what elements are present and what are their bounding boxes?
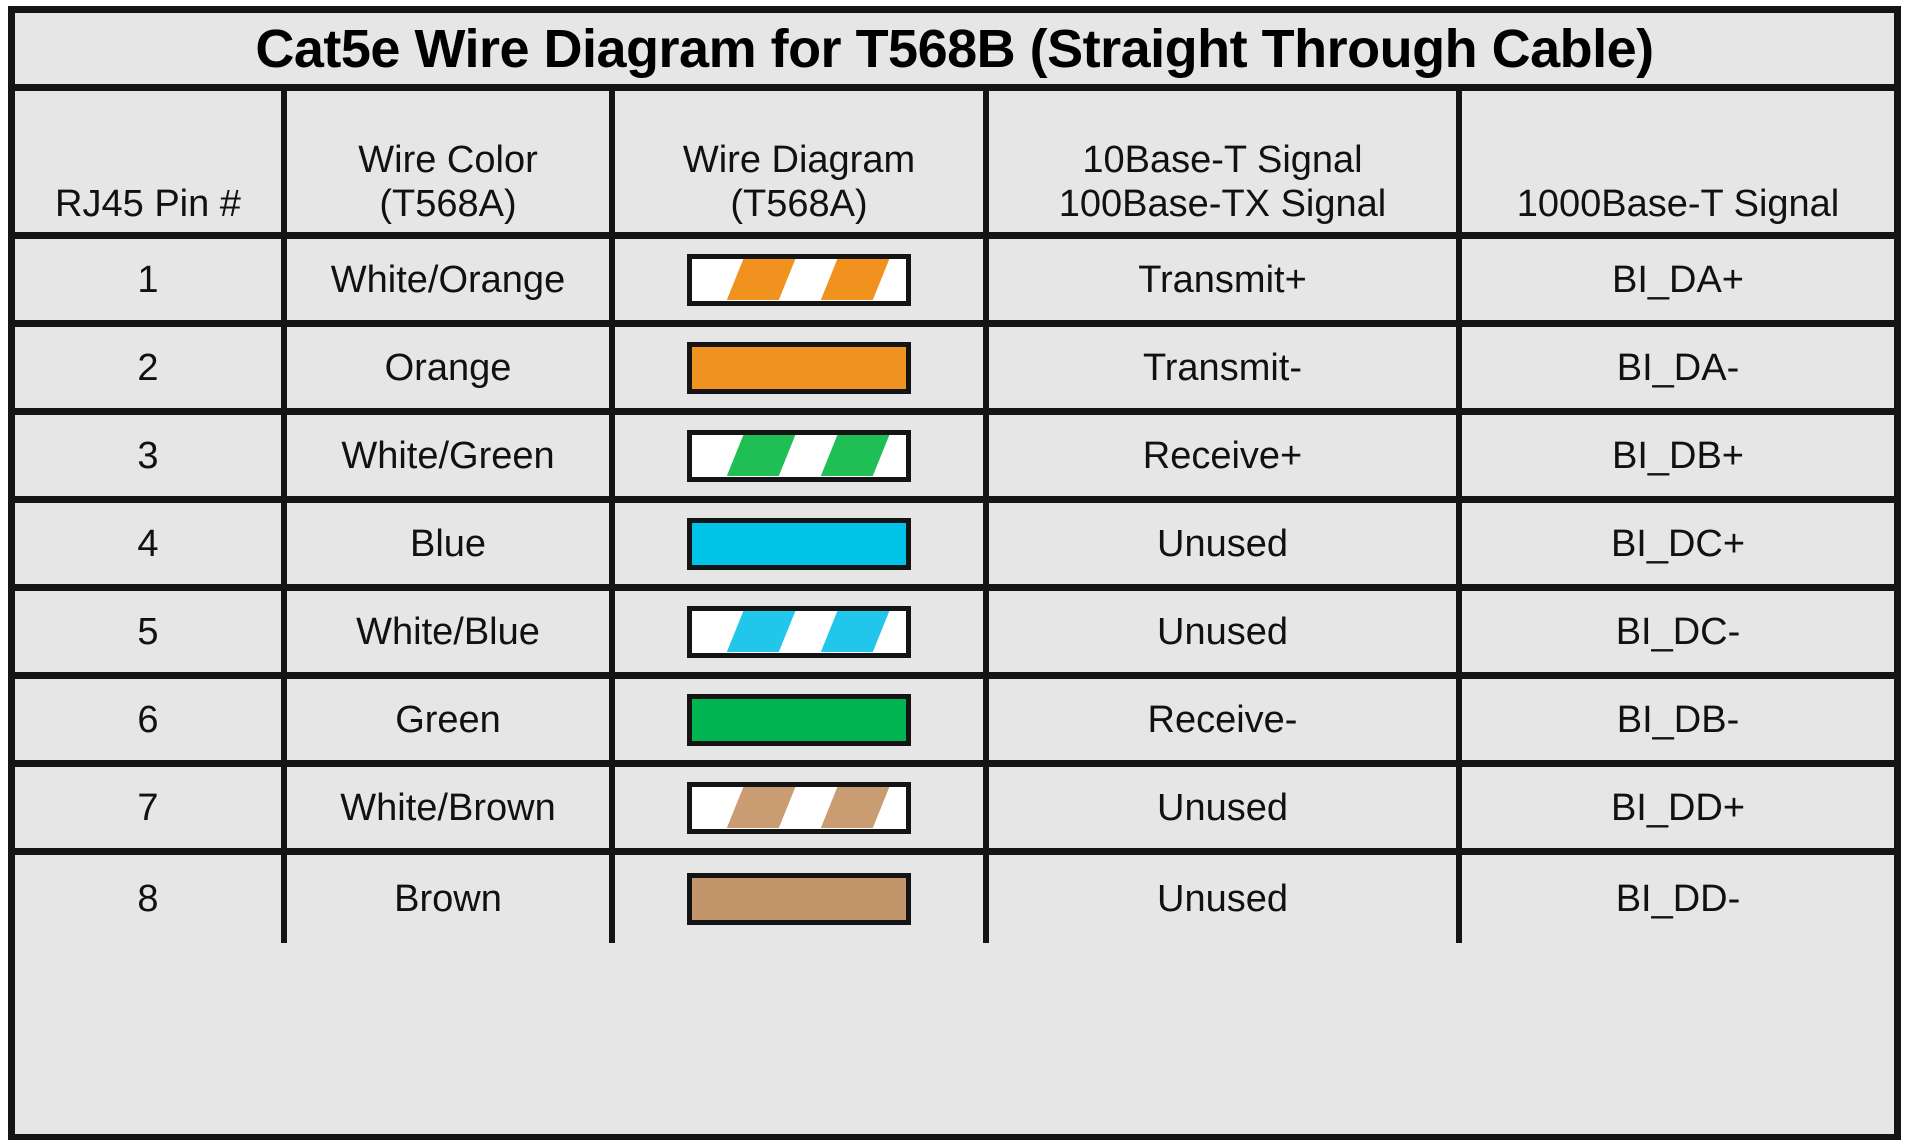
column-header-wire-diagram-line2: (T568A) [730, 182, 867, 226]
signal-10-100-label: Transmit- [1143, 349, 1302, 387]
signal-1000-cell: BI_DD+ [1462, 767, 1894, 848]
signal-1000-cell: BI_DD- [1462, 855, 1894, 943]
wire-diagram-cell [615, 239, 989, 320]
wire-color-cell: Blue [287, 503, 615, 584]
wire-color-label: White/Green [341, 437, 554, 475]
wire-diagram-cell [615, 327, 989, 408]
signal-1000-cell: BI_DB- [1462, 679, 1894, 760]
wire-swatch-base [692, 878, 906, 920]
column-header-wire-color: Wire Color (T568A) [287, 91, 615, 232]
pin-number-cell: 5 [15, 591, 287, 672]
signal-10-100-cell: Unused [989, 503, 1462, 584]
pin-number-cell: 8 [15, 855, 287, 943]
wire-diagram-cell [615, 767, 989, 848]
column-header-pin-label: RJ45 Pin # [55, 182, 241, 226]
signal-1000-label: BI_DC- [1616, 613, 1741, 651]
table-row: 7White/BrownUnusedBI_DD+ [15, 767, 1894, 855]
cat5e-pinout-table: Cat5e Wire Diagram for T568B (Straight T… [8, 6, 1901, 1140]
green-wire-swatch [687, 694, 911, 746]
pin-number-cell: 6 [15, 679, 287, 760]
wire-swatch-base [692, 699, 906, 741]
wire-color-label: White/Blue [356, 613, 540, 651]
wiring-diagram-page: Cat5e Wire Diagram for T568B (Straight T… [0, 0, 1909, 1144]
table-row: 6GreenReceive-BI_DB- [15, 679, 1894, 767]
signal-10-100-label: Receive+ [1143, 437, 1302, 475]
wire-color-label: Blue [410, 525, 486, 563]
signal-1000-label: BI_DB- [1617, 701, 1739, 739]
wire-color-cell: White/Orange [287, 239, 615, 320]
signal-10-100-label: Transmit+ [1138, 261, 1307, 299]
table-row: 1White/OrangeTransmit+BI_DA+ [15, 239, 1894, 327]
signal-1000-cell: BI_DC+ [1462, 503, 1894, 584]
signal-10-100-cell: Unused [989, 767, 1462, 848]
signal-1000-label: BI_DD+ [1611, 789, 1745, 827]
brown-wire-swatch [687, 873, 911, 925]
signal-10-100-label: Unused [1157, 880, 1288, 918]
wire-color-label: White/Orange [331, 261, 565, 299]
white-green-wire-swatch [687, 430, 911, 482]
pin-number-label: 3 [137, 437, 158, 475]
pin-number-cell: 2 [15, 327, 287, 408]
wire-color-cell: Orange [287, 327, 615, 408]
table-row: 2OrangeTransmit-BI_DA- [15, 327, 1894, 415]
signal-10-100-label: Unused [1157, 525, 1288, 563]
signal-1000-label: BI_DD- [1616, 880, 1741, 918]
pin-number-label: 4 [137, 525, 158, 563]
signal-10-100-cell: Receive- [989, 679, 1462, 760]
white-blue-wire-swatch [687, 606, 911, 658]
signal-1000-cell: BI_DB+ [1462, 415, 1894, 496]
table-row: 8BrownUnusedBI_DD- [15, 855, 1894, 943]
pin-number-cell: 1 [15, 239, 287, 320]
signal-10-100-cell: Receive+ [989, 415, 1462, 496]
signal-10-100-label: Unused [1157, 613, 1288, 651]
table-row: 5White/BlueUnusedBI_DC- [15, 591, 1894, 679]
wire-color-cell: White/Brown [287, 767, 615, 848]
table-header-row: RJ45 Pin # Wire Color (T568A) Wire Diagr… [15, 91, 1894, 239]
signal-1000-label: BI_DA- [1617, 349, 1739, 387]
pin-number-label: 5 [137, 613, 158, 651]
wire-color-label: Green [395, 701, 501, 739]
signal-1000-cell: BI_DC- [1462, 591, 1894, 672]
table-row: 4BlueUnusedBI_DC+ [15, 503, 1894, 591]
wire-diagram-cell [615, 415, 989, 496]
pin-number-label: 1 [137, 261, 158, 299]
column-header-10-100-base-signal: 10Base-T Signal 100Base-TX Signal [989, 91, 1462, 232]
signal-10-100-cell: Unused [989, 855, 1462, 943]
blue-wire-swatch [687, 518, 911, 570]
wire-color-cell: White/Blue [287, 591, 615, 672]
wire-color-label: Orange [385, 349, 512, 387]
pin-number-cell: 7 [15, 767, 287, 848]
column-header-wire-color-line2: (T568A) [379, 182, 516, 226]
orange-wire-swatch [687, 342, 911, 394]
column-header-10base-t-label: 10Base-T Signal [1082, 138, 1362, 182]
pin-number-label: 2 [137, 349, 158, 387]
signal-1000-label: BI_DB+ [1612, 437, 1744, 475]
page-title: Cat5e Wire Diagram for T568B (Straight T… [255, 22, 1653, 76]
column-header-pin: RJ45 Pin # [15, 91, 287, 232]
signal-10-100-label: Receive- [1148, 701, 1298, 739]
signal-1000-cell: BI_DA+ [1462, 239, 1894, 320]
signal-10-100-cell: Transmit+ [989, 239, 1462, 320]
signal-10-100-cell: Transmit- [989, 327, 1462, 408]
wire-color-cell: Green [287, 679, 615, 760]
pin-number-label: 6 [137, 701, 158, 739]
wire-diagram-cell [615, 503, 989, 584]
column-header-wire-diagram: Wire Diagram (T568A) [615, 91, 989, 232]
pin-number-cell: 3 [15, 415, 287, 496]
table-row: 3White/GreenReceive+BI_DB+ [15, 415, 1894, 503]
wire-color-label: White/Brown [340, 789, 555, 827]
signal-10-100-cell: Unused [989, 591, 1462, 672]
column-header-100base-tx-label: 100Base-TX Signal [1059, 182, 1386, 226]
wire-diagram-cell [615, 679, 989, 760]
pin-number-label: 8 [137, 880, 158, 918]
table-title-row: Cat5e Wire Diagram for T568B (Straight T… [15, 13, 1894, 91]
column-header-1000base-t-signal: 1000Base-T Signal [1462, 91, 1894, 232]
wire-diagram-cell [615, 591, 989, 672]
pin-number-label: 7 [137, 789, 158, 827]
wire-swatch-base [692, 347, 906, 389]
wire-color-cell: Brown [287, 855, 615, 943]
pin-number-cell: 4 [15, 503, 287, 584]
signal-1000-label: BI_DA+ [1612, 261, 1744, 299]
column-header-wire-diagram-line1: Wire Diagram [683, 138, 915, 182]
signal-10-100-label: Unused [1157, 789, 1288, 827]
wire-color-label: Brown [394, 880, 502, 918]
white-brown-wire-swatch [687, 782, 911, 834]
column-header-wire-color-line1: Wire Color [358, 138, 537, 182]
column-header-1000base-t-label: 1000Base-T Signal [1517, 182, 1840, 226]
signal-1000-label: BI_DC+ [1611, 525, 1745, 563]
white-orange-wire-swatch [687, 254, 911, 306]
wire-diagram-cell [615, 855, 989, 943]
wire-color-cell: White/Green [287, 415, 615, 496]
wire-swatch-base [692, 523, 906, 565]
signal-1000-cell: BI_DA- [1462, 327, 1894, 408]
